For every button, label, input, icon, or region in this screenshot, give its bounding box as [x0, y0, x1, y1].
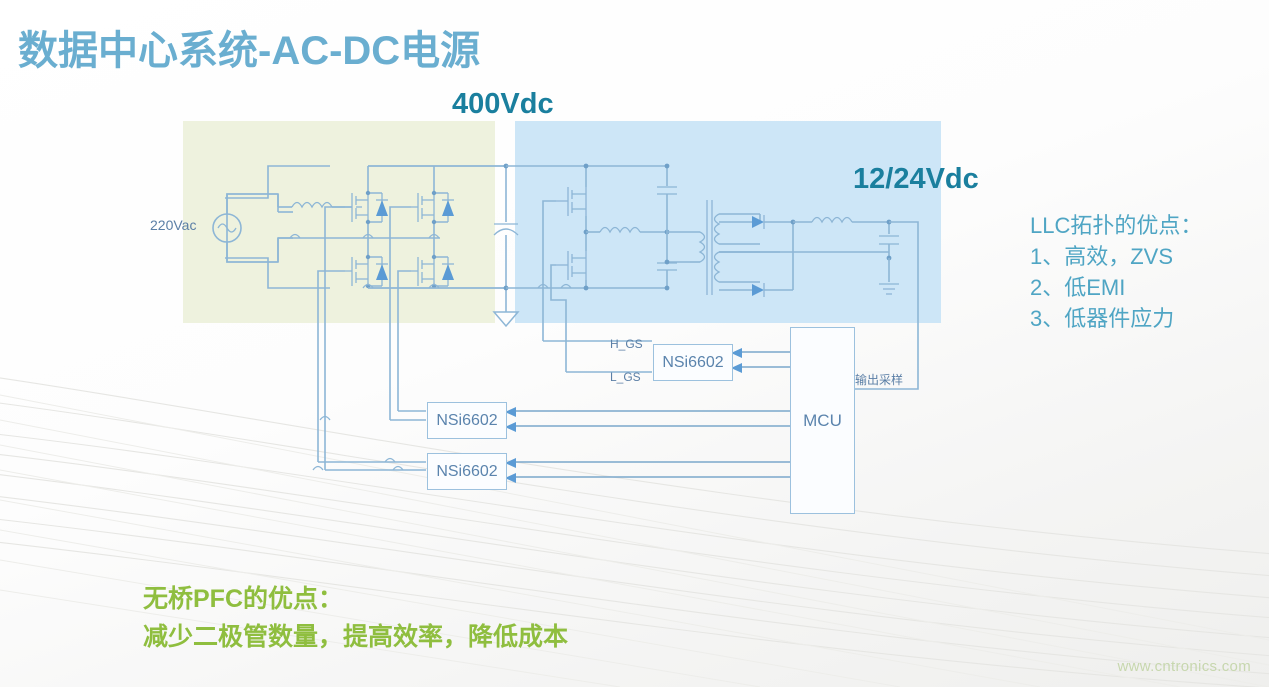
stage-panel-pfc	[183, 121, 495, 323]
block-mcu-controller: MCU	[790, 327, 855, 514]
notes-llc-item-3: 3、低器件应力	[1030, 303, 1202, 334]
stage-panel-llc	[515, 121, 941, 323]
voltage-label-dc-bus: 400Vdc	[452, 88, 554, 121]
signal-label-low-side-gate: L_GS	[610, 370, 641, 384]
notes-llc-advantages: LLC拓扑的优点： 1、高效，ZVS 2、低EMI 3、低器件应力	[1030, 210, 1202, 334]
page-title: 数据中心系统-AC-DC电源	[18, 18, 480, 76]
notes-llc-item-2: 2、低EMI	[1030, 272, 1202, 303]
notes-llc-item-1: 1、高效，ZVS	[1030, 241, 1202, 272]
voltage-label-output: 12/24Vdc	[853, 163, 979, 196]
voltage-label-input: 220Vac	[150, 217, 196, 233]
block-isolator-pfc-1: NSi6602	[427, 402, 507, 439]
notes-llc-heading: LLC拓扑的优点：	[1030, 210, 1202, 241]
signal-label-output-sense: 输出采样	[855, 371, 903, 388]
notes-pfc-body: 减少二极管数量，提高效率，降低成本	[143, 618, 568, 656]
signal-label-high-side-gate: H_GS	[610, 337, 643, 351]
watermark-url: www.cntronics.com	[1118, 658, 1251, 675]
notes-pfc-advantages: 无桥PFC的优点： 减少二极管数量，提高效率，降低成本	[143, 580, 568, 656]
block-isolator-llc: NSi6602	[653, 344, 733, 381]
block-isolator-pfc-2: NSi6602	[427, 453, 507, 490]
slide-canvas: 数据中心系统-AC-DC电源 400Vdc 12/24Vdc 220Vac H_…	[0, 0, 1269, 687]
notes-pfc-heading: 无桥PFC的优点：	[143, 580, 568, 618]
